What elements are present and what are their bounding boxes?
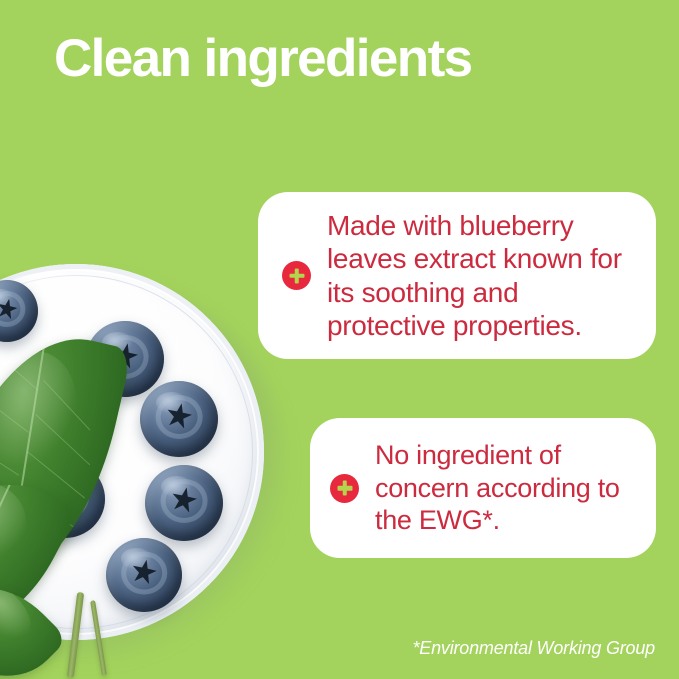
plus-icon-vertical-bar (342, 481, 347, 496)
blueberry (145, 465, 223, 541)
blueberry-calyx-ring (156, 395, 203, 439)
plus-icon (330, 474, 359, 503)
leaf-vein (18, 489, 74, 529)
blueberry-leaf-tip (0, 560, 68, 679)
leaf-vein (0, 395, 29, 433)
blueberry-calyx-ring (102, 335, 149, 379)
leaf-stem-secondary (90, 600, 107, 676)
plus-icon (282, 261, 311, 290)
blueberry-calyx-ring (0, 291, 26, 327)
blueberry-calyx-ring (41, 474, 89, 519)
petri-dish (0, 264, 264, 640)
leaf-sheen (0, 469, 40, 577)
blueberry (0, 280, 38, 342)
blueberry-leaf-secondary (0, 450, 79, 670)
leaf-vein (0, 349, 39, 391)
blueberry (106, 538, 182, 612)
leaf-vein (43, 380, 90, 430)
blueberry-calyx-ring (121, 551, 167, 594)
feature-card-text: No ingredient of concern according to th… (375, 439, 642, 538)
leaf-stem (67, 592, 84, 678)
footnote: *Environmental Working Group (412, 638, 655, 659)
feature-card-text: Made with blueberry leaves extract known… (327, 209, 642, 342)
blueberry (86, 321, 164, 397)
blueberry-calyx-ring (161, 479, 208, 523)
blueberry (25, 460, 105, 538)
petri-dish-shadow (0, 282, 286, 660)
blueberry-leaf (0, 317, 133, 615)
petri-dish-gloss (0, 248, 144, 424)
leaf-vein (35, 414, 90, 465)
petri-dish-inner-ring (0, 275, 253, 629)
feature-card: No ingredient of concern according to th… (310, 418, 656, 558)
feature-card: Made with blueberry leaves extract known… (258, 192, 656, 359)
leaf-vein (0, 442, 19, 475)
leaf-midrib (0, 484, 10, 632)
promo-image: Clean ingredients Made with blueberry le… (0, 0, 679, 679)
leaf-sheen (0, 341, 87, 478)
leaf-sheen (0, 573, 41, 651)
petri-dish-rim (0, 264, 264, 640)
leaf-midrib (5, 341, 46, 588)
blueberry (140, 381, 218, 457)
leaf-vein (27, 452, 85, 499)
page-title: Clean ingredients (54, 31, 472, 87)
plus-icon-vertical-bar (294, 268, 299, 283)
